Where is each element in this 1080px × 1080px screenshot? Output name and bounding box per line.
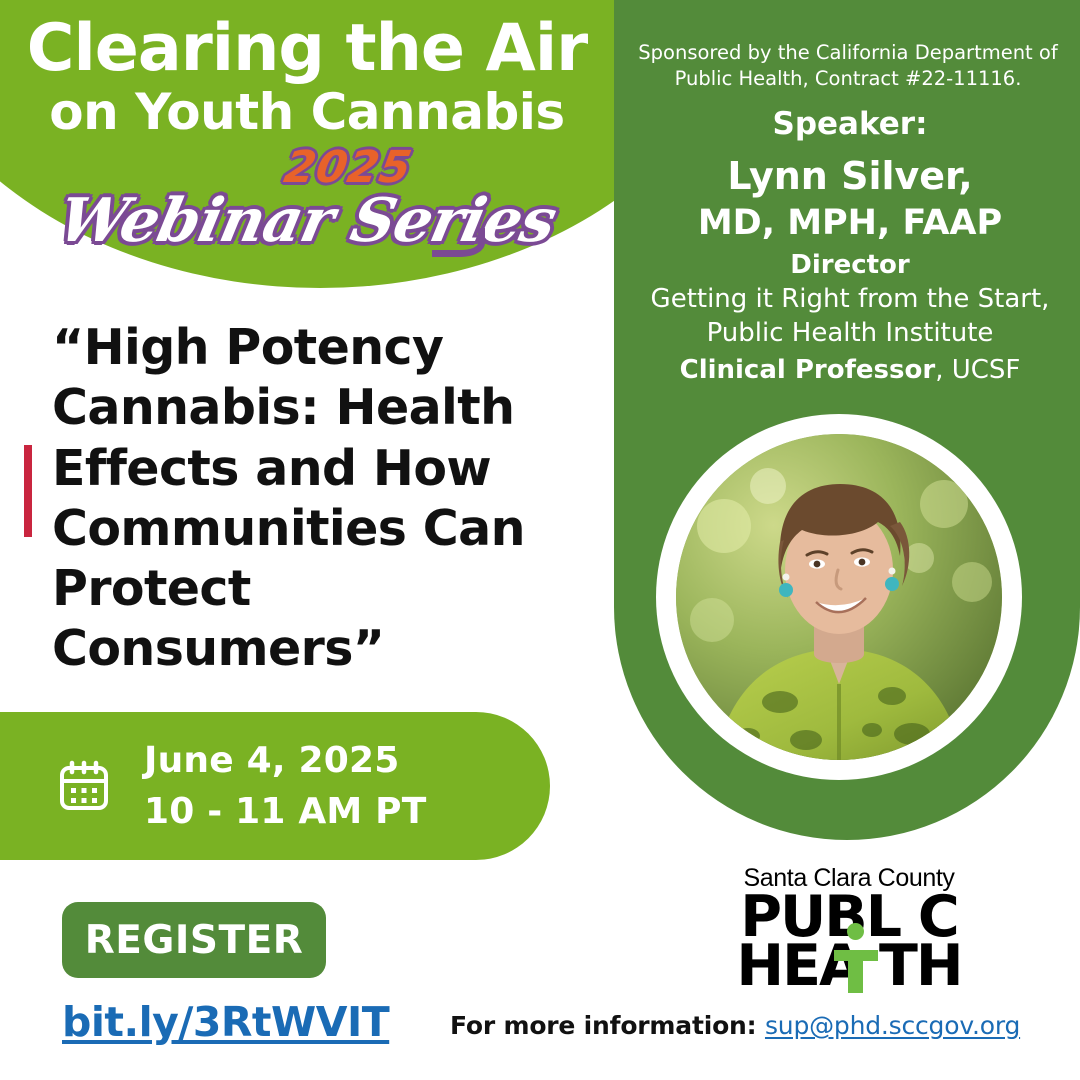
speaker-org-line-1: Getting it Right from the Start, <box>630 283 1070 316</box>
speaker-org-line-2: Public Health Institute <box>630 317 1070 350</box>
speaker-professor-line: Clinical Professor, UCSF <box>630 352 1070 388</box>
webinar-topic-block: “High Potency Cannabis: Health Effects a… <box>52 318 592 680</box>
series-year-badge: 2025 <box>281 142 416 193</box>
contact-info: For more information: sup@phd.sccgov.org <box>450 1011 1020 1040</box>
register-button[interactable]: REGISTER <box>62 902 326 978</box>
series-logo: Webinar Series 2025 <box>0 142 614 252</box>
calendar-icon <box>58 760 110 812</box>
register-link[interactable]: bit.ly/3RtWVIT <box>62 998 389 1046</box>
speaker-professor-title: Clinical Professor <box>680 355 936 385</box>
speaker-name: Lynn Silver, <box>630 150 1070 202</box>
flyer-header: Clearing the Air on Youth Cannabis Webin… <box>0 16 614 252</box>
event-date: June 4, 2025 <box>144 735 427 786</box>
webinar-flyer: Clearing the Air on Youth Cannabis Webin… <box>0 0 1080 1080</box>
event-datetime-text: June 4, 2025 10 - 11 AM PT <box>144 735 427 837</box>
speaker-credentials: MD, MPH, FAAP <box>630 202 1070 244</box>
flyer-title-line-2: on Youth Cannabis <box>0 81 614 144</box>
logo-person-head-icon <box>847 923 864 940</box>
logo-wordmark: PUBL C HEA TH <box>730 893 968 991</box>
series-swoosh-icon <box>432 228 485 257</box>
logo-person-body-icon <box>848 950 863 993</box>
speaker-portrait <box>676 434 1002 760</box>
flyer-title-line-1: Clearing the Air <box>0 16 614 81</box>
speaker-label: Speaker: <box>630 104 1070 146</box>
sponsor-credit: Sponsored by the California Department o… <box>636 40 1060 91</box>
speaker-info: Speaker: Lynn Silver, MD, MPH, FAAP Dire… <box>630 104 1070 388</box>
event-time: 10 - 11 AM PT <box>144 786 427 837</box>
series-script-text: Webinar Series <box>52 186 561 256</box>
contact-prefix: For more information: <box>450 1011 756 1040</box>
speaker-role: Director <box>630 248 1070 283</box>
red-accent-bar <box>24 445 32 537</box>
event-datetime-pill: June 4, 2025 10 - 11 AM PT <box>0 712 550 860</box>
contact-email-link[interactable]: sup@phd.sccgov.org <box>765 1011 1020 1040</box>
webinar-topic-title: “High Potency Cannabis: Health Effects a… <box>52 318 592 680</box>
speaker-professor-affiliation: , UCSF <box>935 355 1020 385</box>
scc-public-health-logo: Santa Clara County PUBL C HEA TH <box>730 866 968 991</box>
